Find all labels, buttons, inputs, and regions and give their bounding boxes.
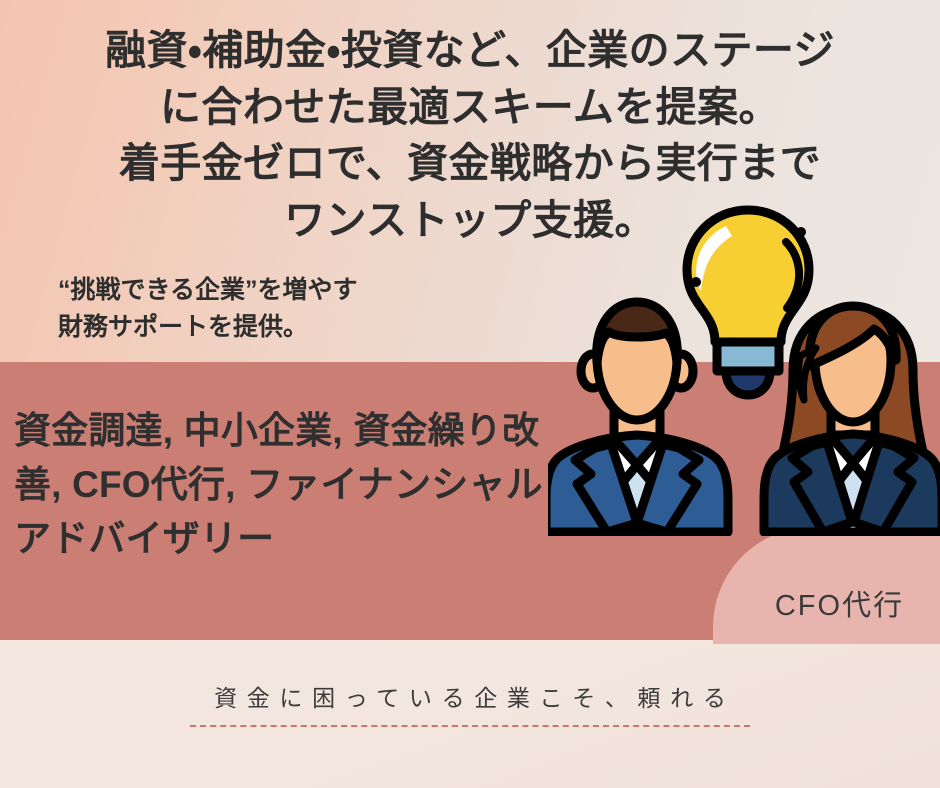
keywords-text: 資金調達, 中小企業, 資金繰り改善, CFO代行, ファイナンシャルアドバイザ… bbox=[14, 404, 574, 566]
caption-dashed-rule bbox=[190, 725, 750, 727]
businesswoman-avatar bbox=[764, 306, 940, 532]
subcopy-text: “挑戦できる企業”を増やす 財務サポートを提供。 bbox=[58, 272, 578, 345]
bottom-caption: 資金に困っている企業こそ、頼れる bbox=[0, 684, 940, 727]
headline-text: 融資・補助金・投資など、企業のステージ に合わせた最適スキームを提案。 着手金ゼ… bbox=[0, 22, 940, 248]
cfo-badge-label: CFO代行 bbox=[749, 548, 904, 624]
bottom-caption-text: 資金に困っている企業こそ、頼れる bbox=[204, 684, 735, 714]
banner-canvas: CFO代行 bbox=[0, 0, 940, 788]
